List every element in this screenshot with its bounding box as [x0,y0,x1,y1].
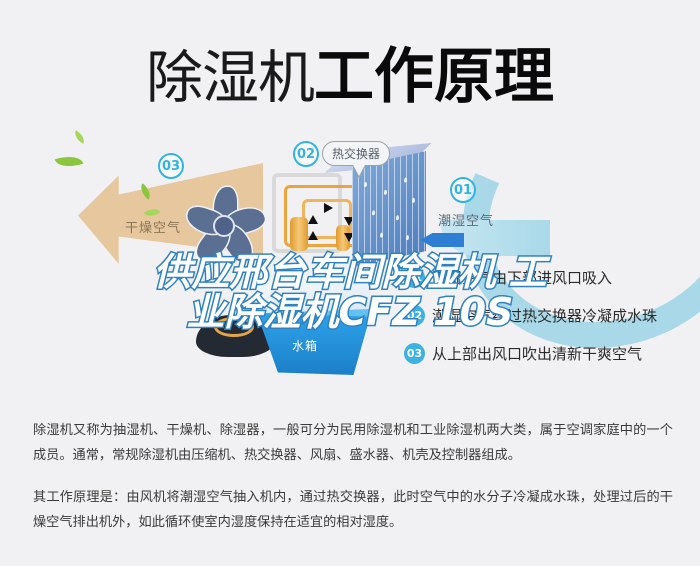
water-tank-label: 水箱 [292,337,318,354]
infographic-page: 除湿机工作原理 干燥空气 [0,0,700,566]
diagram-badge-03: 03 [158,153,184,179]
leaf-icon [72,130,87,143]
fan-hub [213,215,235,237]
leaf-icon [55,151,84,171]
flow-arrow-up-icon [308,231,318,240]
air-inlet-arrow [420,233,464,247]
step-text-01: 潮湿空气由下部进风口吸入 [432,267,612,288]
description-paragraph-1: 除湿机又称为抽湿机、干燥机、除湿器，一般可分为民用除湿机和工业除湿机两大类，属于… [33,418,673,468]
step-badge-03: 03 [404,343,425,364]
list-item: 02 潮湿空气经过热交换器冷凝成水珠 [404,296,700,334]
machine-base-ring [214,317,254,337]
flow-arrow-right-icon [324,203,333,213]
description-paragraph-2: 其工作原理是：由风机将潮湿空气抽入机内，通过热交换器，此时空气中的水分子冷凝成水… [33,485,673,535]
diagram-badge-01: 01 [450,177,476,203]
step-text-02: 潮湿空气经过热交换器冷凝成水珠 [432,305,657,326]
fan-icon [178,177,270,265]
callout-pointer [352,163,366,176]
step-badge-01: 01 [404,267,425,288]
humid-air-label: 潮湿空气 [438,210,494,229]
dry-air-label: 干燥空气 [125,217,181,236]
diagram-badge-02: 02 [293,141,319,167]
compressor-cylinder [290,217,308,251]
flow-arrow-up-icon [308,215,318,224]
list-item: 01 潮湿空气由下部进风口吸入 [404,258,700,296]
page-title: 除湿机工作原理 [0,28,700,115]
step-list: 01 潮湿空气由下部进风口吸入 02 潮湿空气经过热交换器冷凝成水珠 03 从上… [404,258,700,372]
list-item: 03 从上部出风口吹出清新干爽空气 [404,334,700,372]
step-badge-02: 02 [404,305,425,326]
page-title-bold: 工作原理 [314,42,554,112]
page-title-light: 除湿机 [146,45,314,111]
step-text-03: 从上部出风口吹出清新干爽空气 [432,343,642,364]
description-block: 除湿机又称为抽湿机、干燥机、除湿器，一般可分为民用除湿机和工业除湿机两大类，属于… [33,418,673,535]
